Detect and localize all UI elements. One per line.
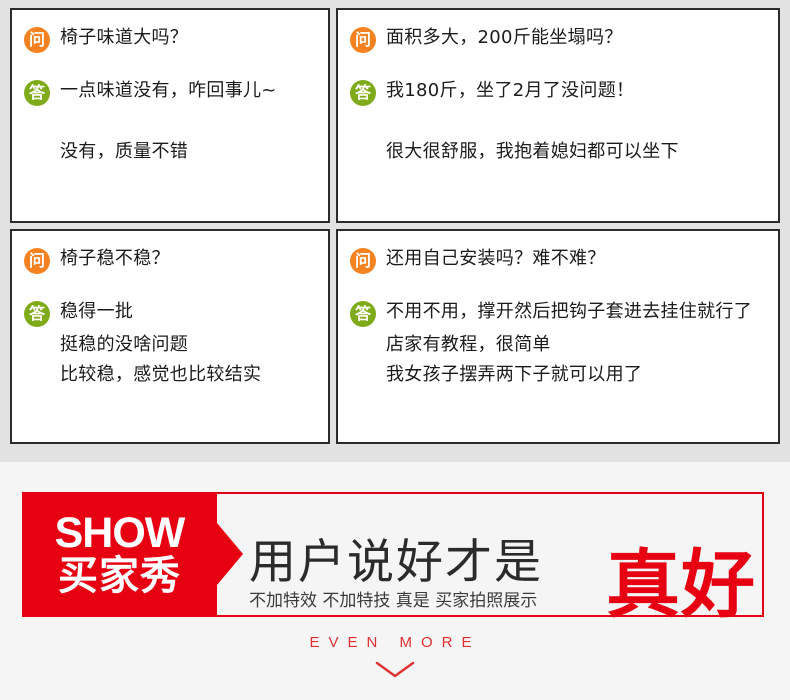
question-row: 问 椅子稳不稳？ <box>24 247 316 274</box>
answer-badge-icon: 答 <box>350 80 376 106</box>
headline-main-text: 用户说好才是 <box>249 539 543 586</box>
answer-row: 答 不用不用，撑开然后把钩子套进去挂住就行了 <box>350 300 766 327</box>
show-chinese-label: 买家秀 <box>58 556 181 597</box>
headline-accent-text: 真好 <box>606 551 756 619</box>
qa-card: 问 面积多大，200斤能坐塌吗？ 答 我180斤，坐了2月了没问题！ 很大很舒服… <box>336 8 780 223</box>
buyer-show-banner: SHOW 买家秀 用户说好才是 不加特效 不加特技 真是 买家拍照展示 真好 <box>22 492 764 617</box>
answer-row: 答 稳得一批 <box>24 300 316 327</box>
answer-extra-line: 挺稳的没啥问题 <box>60 333 316 357</box>
headline-sub-text: 不加特效 不加特技 真是 买家拍照展示 <box>249 592 543 611</box>
answer-text: 不用不用，撑开然后把钩子套进去挂住就行了 <box>386 300 766 324</box>
answer-extra-line: 店家有教程，很简单 <box>386 333 766 357</box>
qa-card: 问 椅子稳不稳？ 答 稳得一批 挺稳的没啥问题 比较稳，感觉也比较结实 <box>10 229 330 444</box>
answer-row: 答 一点味道没有，咋回事儿~ <box>24 79 316 106</box>
chevron-down-icon <box>373 660 417 680</box>
answer-badge-icon: 答 <box>24 80 50 106</box>
faq-section: 问 椅子味道大吗？ 答 一点味道没有，咋回事儿~ 没有，质量不错 问 面积多大，… <box>0 0 790 462</box>
answer-badge-icon: 答 <box>24 301 50 327</box>
answer-extra-line: 没有，质量不错 <box>60 140 316 164</box>
question-badge-icon: 问 <box>24 248 50 274</box>
answer-extra-line: 很大很舒服，我抱着媳妇都可以坐下 <box>386 140 766 164</box>
question-text: 椅子稳不稳？ <box>60 247 316 271</box>
even-more-label: EVEN MORE <box>0 634 790 651</box>
question-badge-icon: 问 <box>350 27 376 53</box>
question-row: 问 面积多大，200斤能坐塌吗？ <box>350 26 766 53</box>
question-text: 还用自己安装吗？难不难？ <box>386 247 766 271</box>
arrow-right-icon <box>217 523 243 585</box>
headline-text-group: 用户说好才是 不加特效 不加特技 真是 买家拍照展示 <box>227 539 543 617</box>
answer-text: 我180斤，坐了2月了没问题！ <box>386 79 766 103</box>
answer-row: 答 我180斤，坐了2月了没问题！ <box>350 79 766 106</box>
question-text: 面积多大，200斤能坐塌吗？ <box>386 26 766 50</box>
show-english-label: SHOW <box>55 512 185 554</box>
answer-extra-line: 比较稳，感觉也比较结实 <box>60 363 316 387</box>
question-badge-icon: 问 <box>350 248 376 274</box>
question-text: 椅子味道大吗？ <box>60 26 316 50</box>
faq-card-grid: 问 椅子味道大吗？ 答 一点味道没有，咋回事儿~ 没有，质量不错 问 面积多大，… <box>10 8 780 454</box>
answer-badge-icon: 答 <box>350 301 376 327</box>
buyer-show-section: SHOW 买家秀 用户说好才是 不加特效 不加特技 真是 买家拍照展示 真好 E… <box>0 462 790 700</box>
answer-text: 稳得一批 <box>60 300 316 324</box>
qa-card: 问 椅子味道大吗？ 答 一点味道没有，咋回事儿~ 没有，质量不错 <box>10 8 330 223</box>
answer-text: 一点味道没有，咋回事儿~ <box>60 79 316 103</box>
question-badge-icon: 问 <box>24 27 50 53</box>
qa-card: 问 还用自己安装吗？难不难？ 答 不用不用，撑开然后把钩子套进去挂住就行了 店家… <box>336 229 780 444</box>
show-label-block: SHOW 买家秀 <box>22 492 217 617</box>
question-row: 问 椅子味道大吗？ <box>24 26 316 53</box>
question-row: 问 还用自己安装吗？难不难？ <box>350 247 766 274</box>
answer-extra-line: 我女孩子摆弄两下子就可以用了 <box>386 363 766 387</box>
